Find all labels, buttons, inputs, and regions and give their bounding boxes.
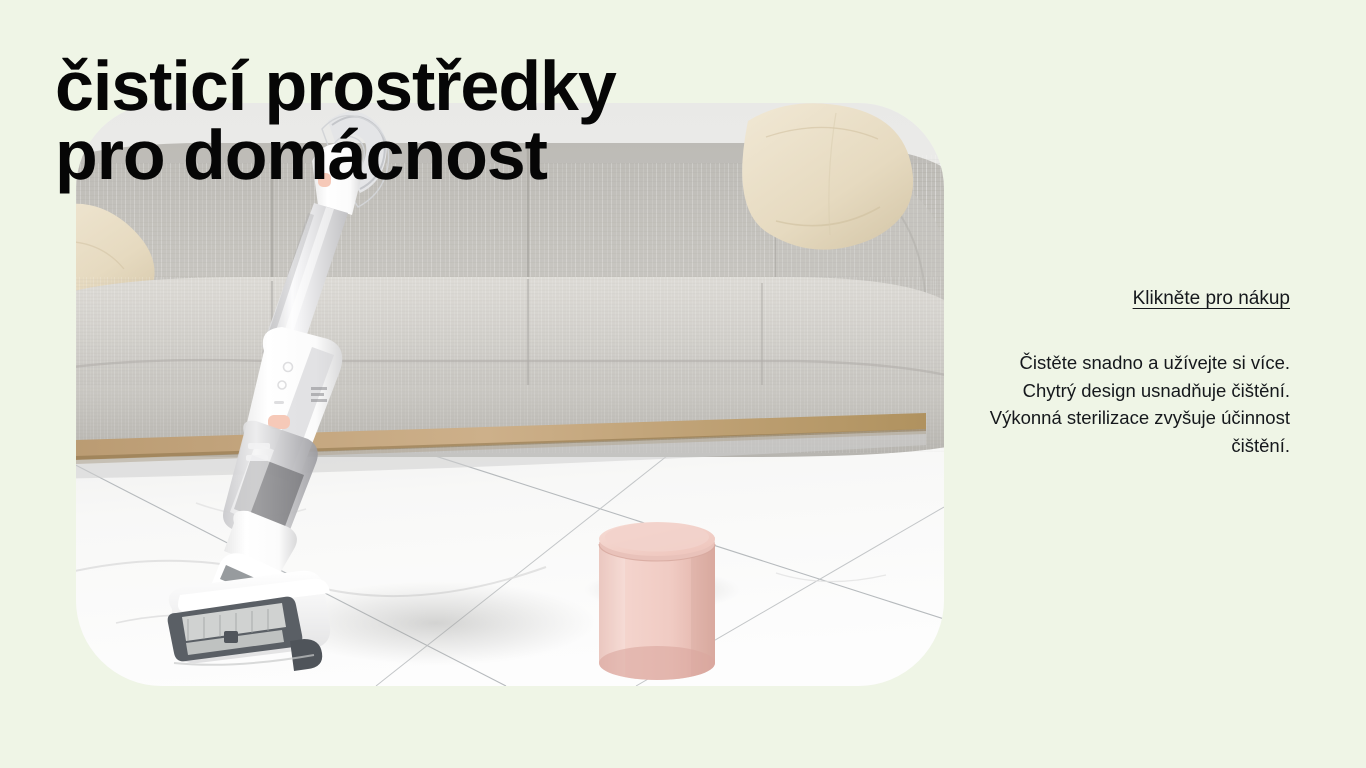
buy-now-link[interactable]: Klikněte pro nákup bbox=[1133, 288, 1290, 311]
throw-pillow-right bbox=[742, 103, 913, 249]
page-title: čisticí prostředky pro domácnost bbox=[55, 52, 616, 191]
promo-description: Čistěte snadno a užívejte si více. Chytr… bbox=[972, 349, 1290, 460]
promo-banner: čisticí prostředky pro domácnost Kliknět… bbox=[0, 0, 1366, 768]
promo-copy-block: Klikněte pro nákup Čistěte snadno a užív… bbox=[972, 288, 1290, 460]
pink-trash-bin bbox=[599, 522, 717, 686]
